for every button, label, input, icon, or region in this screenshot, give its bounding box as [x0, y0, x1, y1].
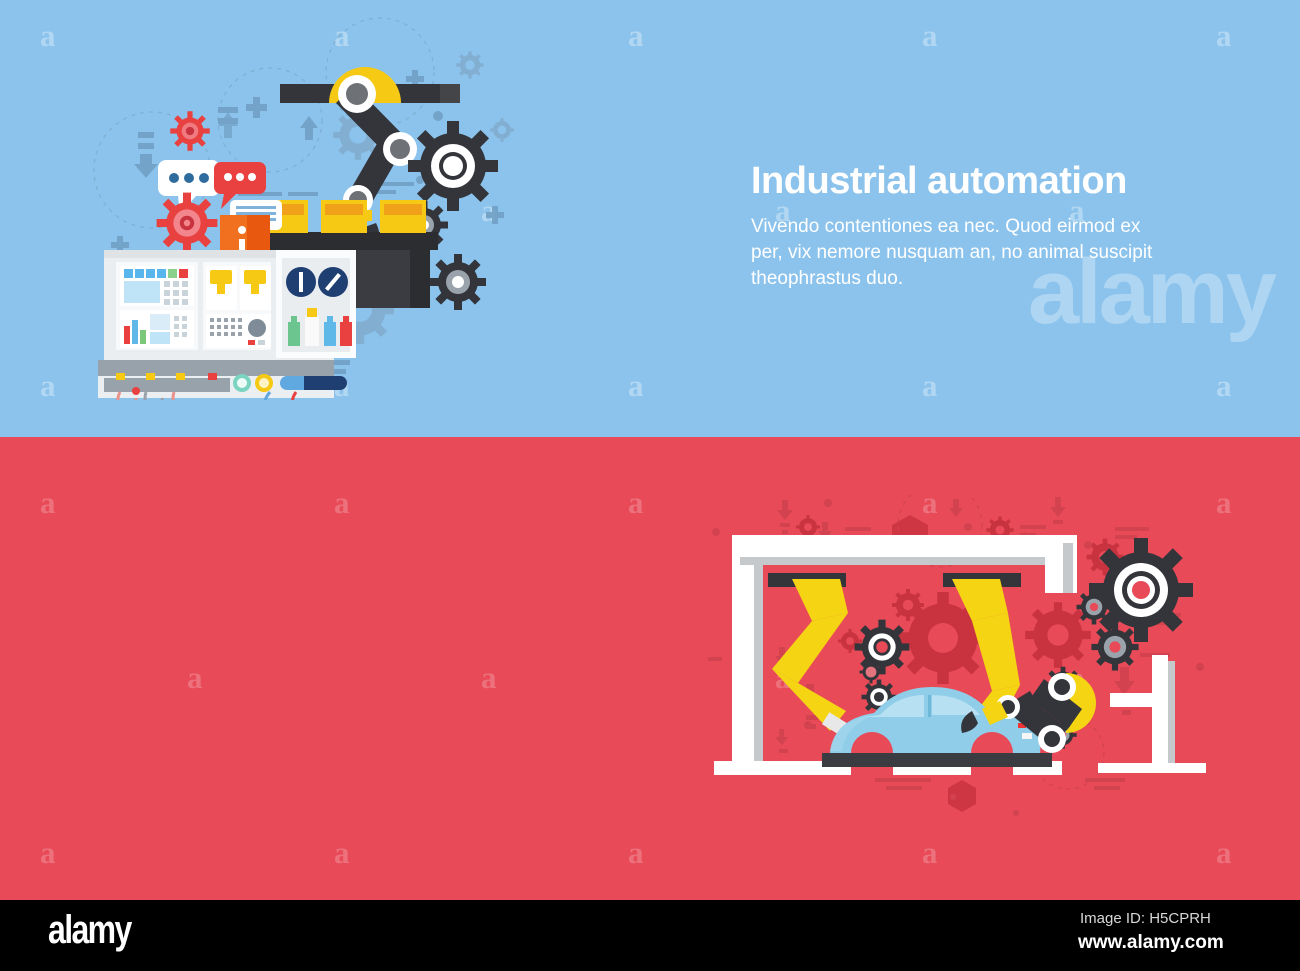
- large-gear-white: [1067, 516, 1214, 663]
- industrial-automation-text: Industrial automation Vivendo contention…: [751, 158, 1171, 292]
- watermark-letter: a: [40, 20, 56, 51]
- cardboard-boxes: [262, 200, 426, 233]
- watermark-letter: a: [334, 487, 350, 518]
- watermark-letter: a: [628, 370, 644, 401]
- image-id-label: Image ID: H5CPRH: [1080, 910, 1211, 927]
- conveyor-top: [253, 232, 438, 250]
- watermark-letter: a: [40, 837, 56, 868]
- watermark-letter: a: [922, 370, 938, 401]
- watermark-letter: a: [1216, 20, 1232, 51]
- banner-manufacture-robots: aaaaaaaaaaaaaa Manufacture robots Vivend…: [0, 437, 1300, 900]
- watermark-letter: a: [628, 837, 644, 868]
- watermark-letter: a: [40, 487, 56, 518]
- headline-industrial-automation: Industrial automation: [751, 158, 1171, 204]
- manufacture-robots-illustration: [700, 495, 1220, 825]
- red-gear-small: [162, 103, 218, 159]
- watermark-letter: a: [334, 837, 350, 868]
- watermark-letter: a: [40, 370, 56, 401]
- control-panel: [98, 250, 356, 400]
- industrial-automation-illustration: [90, 10, 520, 400]
- alamy-url[interactable]: www.alamy.com: [1078, 932, 1224, 954]
- alamy-logo: alamy: [48, 908, 131, 953]
- watermark-letter: a: [187, 662, 203, 693]
- assembly-platform: [822, 753, 1052, 767]
- watermark-letter: a: [628, 487, 644, 518]
- small-gear-grey: [418, 242, 497, 321]
- watermark-letter: a: [1216, 837, 1232, 868]
- banner-industrial-automation: aaaaaaaaaaaaaa: [0, 0, 1300, 437]
- watermark-letter: a: [1216, 370, 1232, 401]
- keypad-upper: [164, 281, 188, 305]
- watermark-letter: a: [481, 662, 497, 693]
- alamy-footer-bar: alamy Image ID: H5CPRH www.alamy.com: [0, 900, 1300, 971]
- watermark-letter: a: [628, 20, 644, 51]
- right-frame: [1100, 655, 1206, 773]
- slider-knob: [304, 376, 347, 390]
- stock-photo-canvas: aaaaaaaaaaaaaa: [0, 0, 1300, 971]
- body-copy-industrial-automation: Vivendo contentiones ea nec. Quod eirmod…: [751, 214, 1166, 292]
- watermark-letter: a: [922, 20, 938, 51]
- watermark-letter: a: [922, 837, 938, 868]
